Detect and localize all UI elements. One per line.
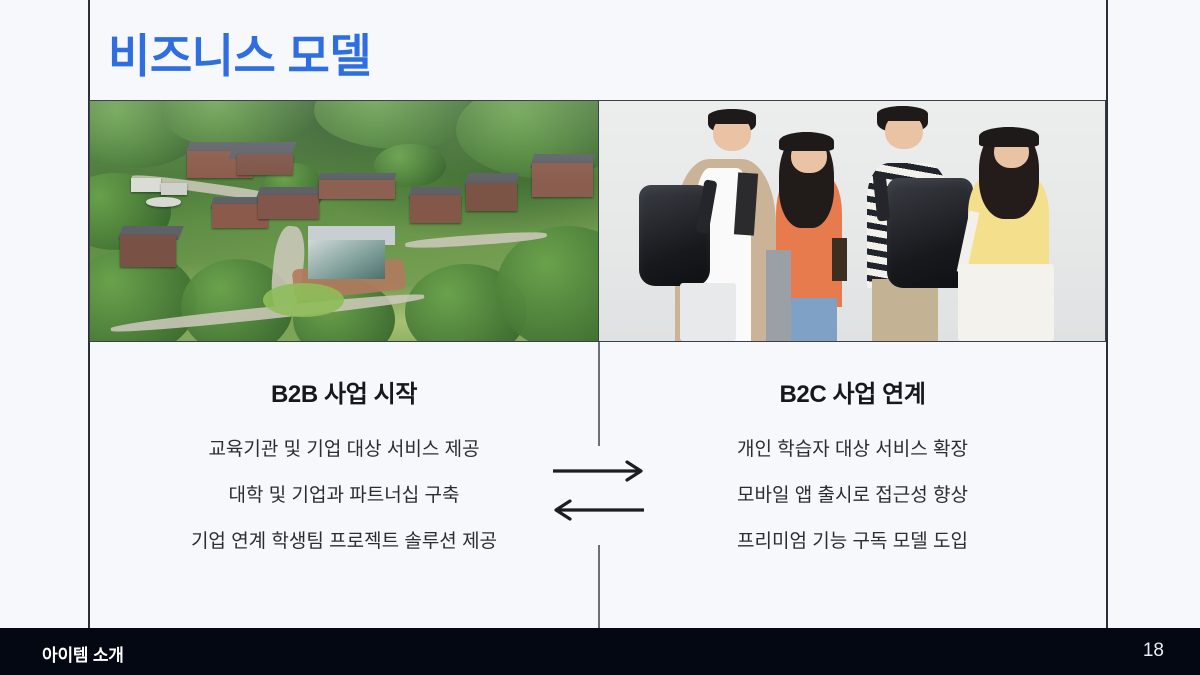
bullet-list-b2c: 개인 학습자 대상 서비스 확장 모바일 앱 출시로 접근성 향상 프리미엄 기… [599,440,1106,578]
center-divider-bottom [598,545,600,628]
list-item: 기업 연계 학생팀 프로젝트 솔루션 제공 [89,532,599,551]
photo-band [89,100,1106,342]
bidirectional-arrows [551,460,646,522]
list-item: 개인 학습자 대상 서비스 확장 [599,440,1106,459]
page-title: 비즈니스 모델 [108,28,371,86]
arrow-left-icon [556,501,644,519]
center-divider-top [598,342,600,446]
list-item: 모바일 앱 출시로 접근성 향상 [599,486,1106,505]
slide-footer: 아이템 소개 18 [0,628,1200,675]
column-heading-b2b: B2B 사업 시작 [89,374,599,409]
students-photo-scene [599,101,1105,341]
page-number: 18 [1143,640,1164,662]
campus-photo-scene [90,101,598,341]
column-heading-b2c: B2C 사업 연계 [599,374,1106,409]
students-photo [599,100,1106,342]
list-item: 교육기관 및 기업 대상 서비스 제공 [89,440,599,459]
frame-line-right [1106,0,1108,628]
list-item: 프리미엄 기능 구독 모델 도입 [599,532,1106,551]
footer-section-label: 아이템 소개 [42,641,124,666]
slide-canvas: 비즈니스 모델 [0,0,1200,675]
campus-photo [89,100,599,342]
bullet-list-b2b: 교육기관 및 기업 대상 서비스 제공 대학 및 기업과 파트너십 구축 기업 … [89,440,599,578]
list-item: 대학 및 기업과 파트너십 구축 [89,486,599,505]
arrow-right-icon [553,462,641,480]
